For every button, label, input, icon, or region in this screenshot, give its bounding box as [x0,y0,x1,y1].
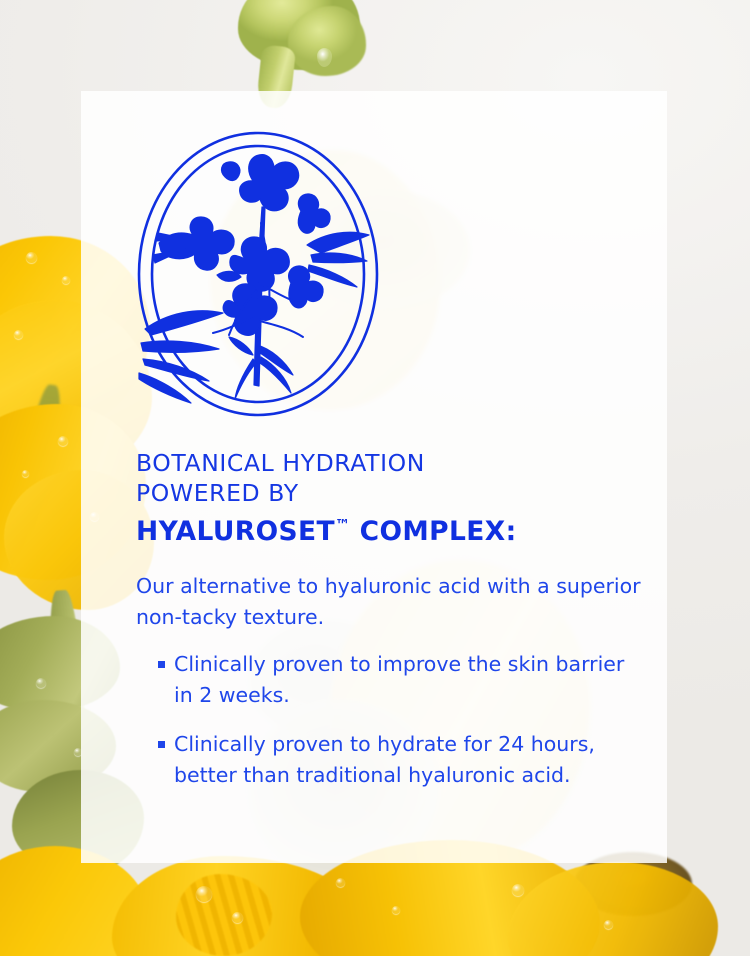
headline-tail: COMPLEX: [350,516,517,547]
square-bullet-icon [158,661,165,668]
claim-copy: BOTANICAL HYDRATION POWERED BY HYALUROSE… [136,448,646,791]
water-droplet [22,470,29,477]
water-droplet [62,276,70,284]
water-droplet [392,906,400,914]
water-droplet [232,912,243,923]
product-claim-card-image: BOTANICAL HYDRATION POWERED BY HYALUROSE… [0,0,750,956]
water-droplet [36,678,46,688]
content-card: BOTANICAL HYDRATION POWERED BY HYALUROSE… [81,91,667,863]
eyebrow-line-2: POWERED BY [136,478,646,508]
page-title: HYALUROSET™ COMPLEX: [136,508,646,549]
water-droplet [336,878,345,887]
lede-paragraph: Our alternative to hyaluronic acid with … [136,571,646,633]
headline-main: HYALUROSET [136,516,335,547]
water-droplet [26,252,37,263]
list-item-label: Clinically proven to hydrate for 24 hour… [174,732,595,787]
square-bullet-icon [158,741,165,748]
water-droplet [512,884,524,896]
eyebrow-line-1: BOTANICAL HYDRATION [136,448,646,478]
water-droplet [14,330,23,339]
trademark-symbol: ™ [335,516,350,534]
water-droplet [196,886,212,902]
list-item: Clinically proven to hydrate for 24 hour… [136,729,646,791]
water-droplet [604,920,613,929]
water-droplet [58,436,68,446]
list-item-label: Clinically proven to improve the skin ba… [174,652,624,707]
benefit-list: Clinically proven to improve the skin ba… [136,649,646,791]
botanical-flower-oval-emblem [125,123,391,423]
list-item: Clinically proven to improve the skin ba… [136,649,646,711]
petal-ruffle [176,874,272,956]
